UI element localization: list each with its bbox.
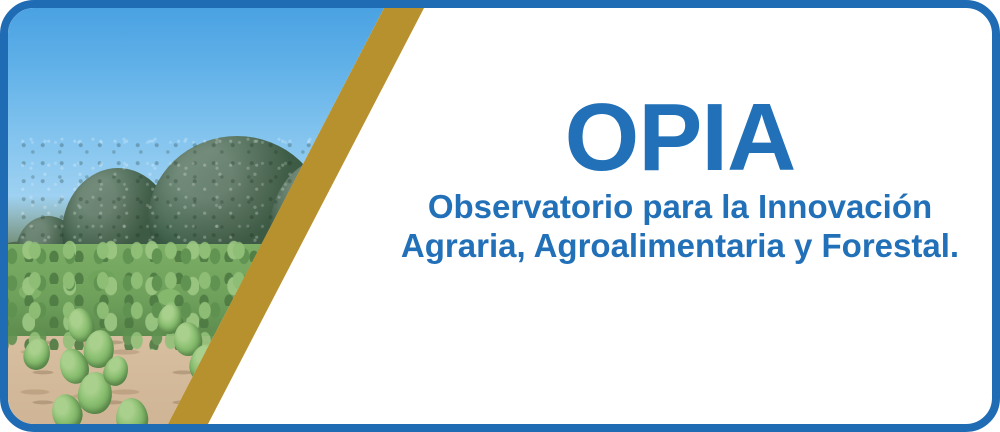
brand-acronym: OPIA <box>565 8 796 182</box>
opia-banner: OPIA Observatorio para la Innovación Agr… <box>0 0 1000 432</box>
brand-text-block: OPIA Observatorio para la Innovación Agr… <box>368 8 992 424</box>
brand-subtitle: Observatorio para la Innovación Agraria,… <box>390 182 970 265</box>
